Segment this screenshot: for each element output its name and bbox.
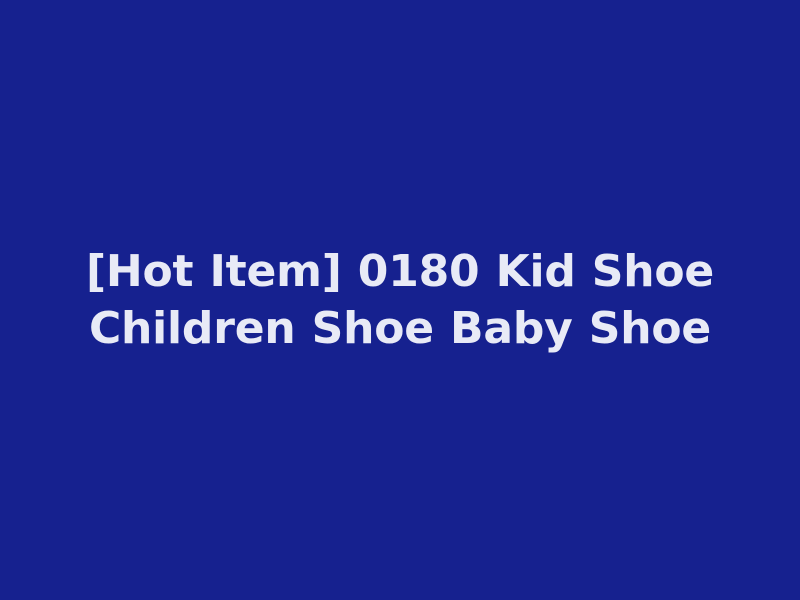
product-title-block: [Hot Item] 0180 Kid Shoe Children Shoe B… — [70, 243, 730, 357]
product-title-text: [Hot Item] 0180 Kid Shoe Children Shoe B… — [70, 243, 730, 357]
image-placeholder-canvas: [Hot Item] 0180 Kid Shoe Children Shoe B… — [0, 0, 800, 600]
